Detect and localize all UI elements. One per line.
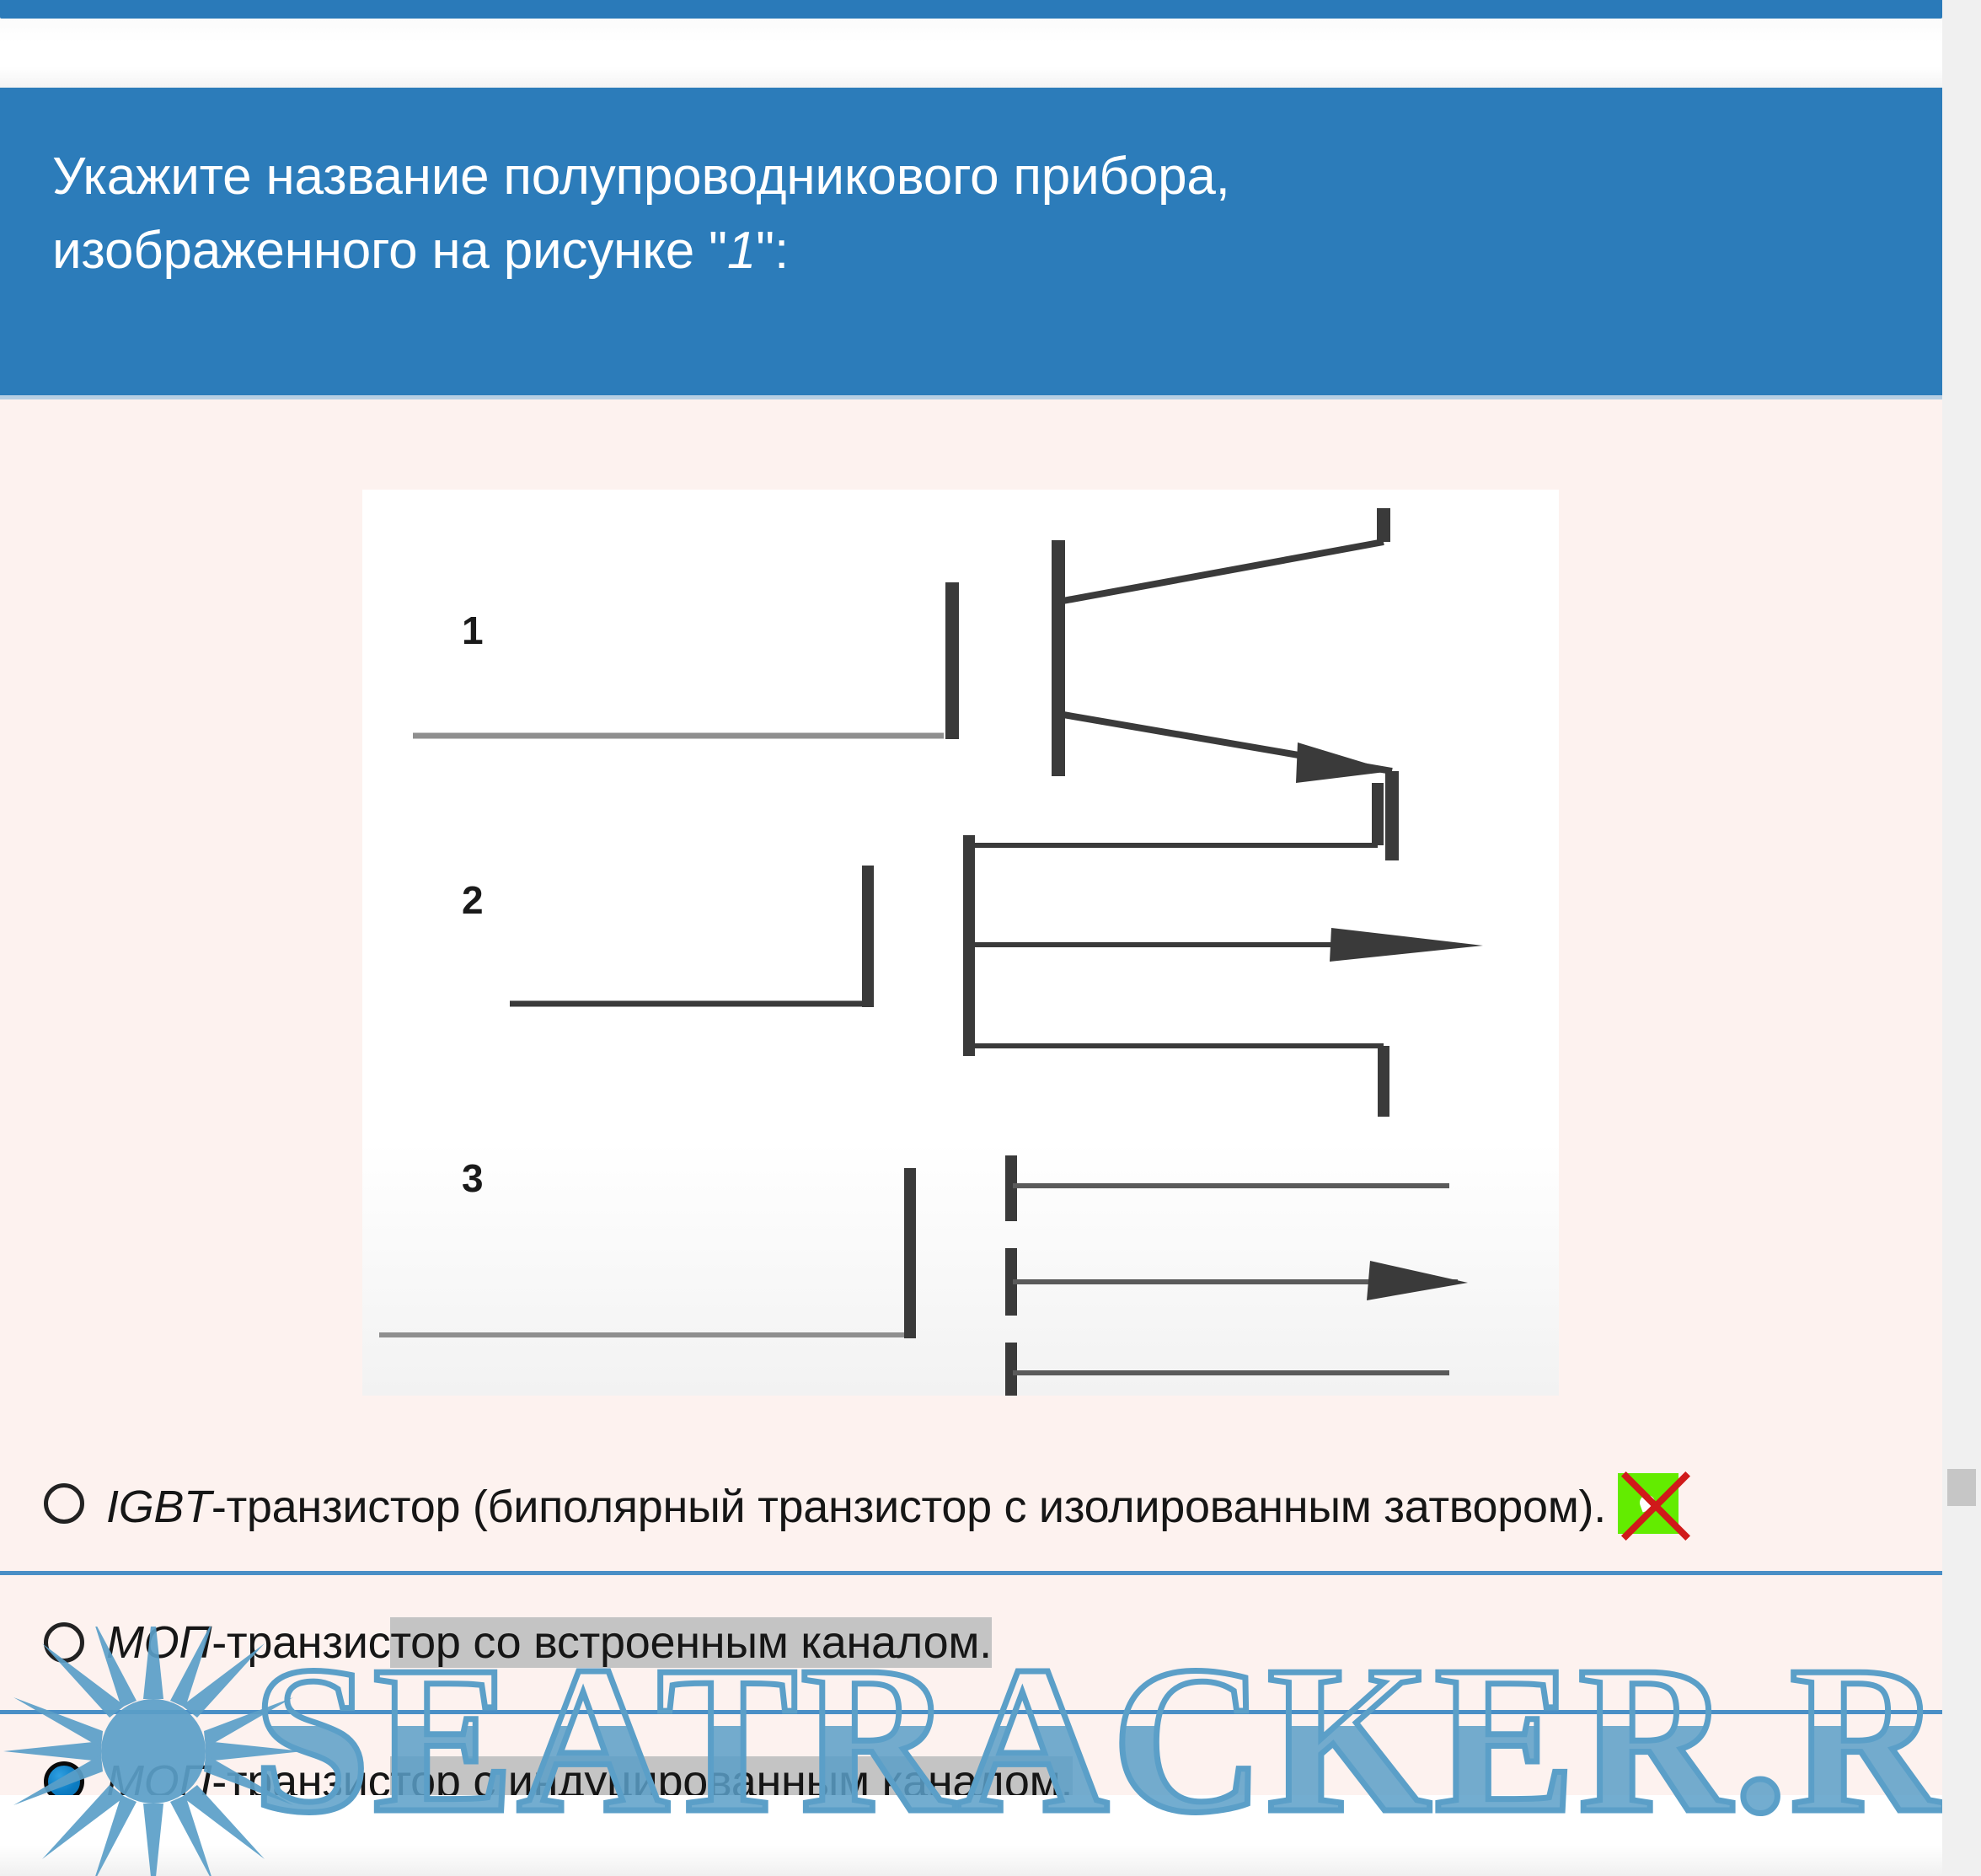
answer-option-mop-builtin[interactable]: МОП-транзистор со встроенным каналом. (0, 1575, 1942, 1710)
answer-option-mop-builtin-text-plain: -транзис (211, 1617, 390, 1668)
question-line-2-prefix: изображенного на рисунке " (52, 222, 727, 280)
window-top-accent-bar (0, 0, 1942, 19)
question-line-2-suffix: ": (756, 222, 789, 280)
answer-option-igbt[interactable]: IGBT-транзистор (биполярный транзистор с… (0, 1436, 1942, 1571)
answer-option-igbt-label: IGBT-транзистор (биполярный транзистор с… (106, 1473, 1678, 1534)
answer-option-igbt-abbrev: IGBT (106, 1482, 211, 1532)
page-root: Укажите название полупроводникового приб… (0, 0, 1981, 1876)
window-top-blank-area (0, 19, 1942, 88)
radio-button-mop-builtin[interactable] (44, 1622, 84, 1663)
figure-label-2: 2 (462, 877, 484, 923)
question-card: Укажите название полупроводникового приб… (0, 88, 1942, 1876)
question-header: Укажите название полупроводникового приб… (0, 88, 1942, 395)
transistor-diagram-figure: 1 2 3 (362, 490, 1559, 1396)
answer-options-list: IGBT-транзистор (биполярный транзистор с… (0, 1436, 1942, 1853)
answer-option-mop-builtin-abbrev: МОП (106, 1617, 211, 1668)
broken-image-icon (1618, 1473, 1678, 1534)
question-figure-ref: 1 (727, 222, 756, 280)
answer-option-igbt-text: -транзистор (биполярный транзистор с изо… (211, 1482, 1606, 1532)
header-underline (0, 395, 1942, 399)
page-title: Укажите название полупроводникового приб… (52, 140, 1866, 288)
scrollbar-thumb[interactable] (1947, 1469, 1976, 1506)
figure-label-3: 3 (462, 1155, 484, 1201)
answer-option-mop-builtin-text-highlighted: тор со встроенным каналом. (390, 1617, 992, 1668)
question-line-1: Укажите название полупроводникового приб… (52, 147, 1230, 206)
card-bottom-blank-area (0, 1795, 1942, 1876)
radio-button-igbt[interactable] (44, 1483, 84, 1524)
answer-option-mop-builtin-label: МОП-транзистор со встроенным каналом. (106, 1616, 992, 1669)
figure-label-1: 1 (462, 608, 484, 653)
vertical-scrollbar[interactable] (1942, 0, 1981, 1876)
